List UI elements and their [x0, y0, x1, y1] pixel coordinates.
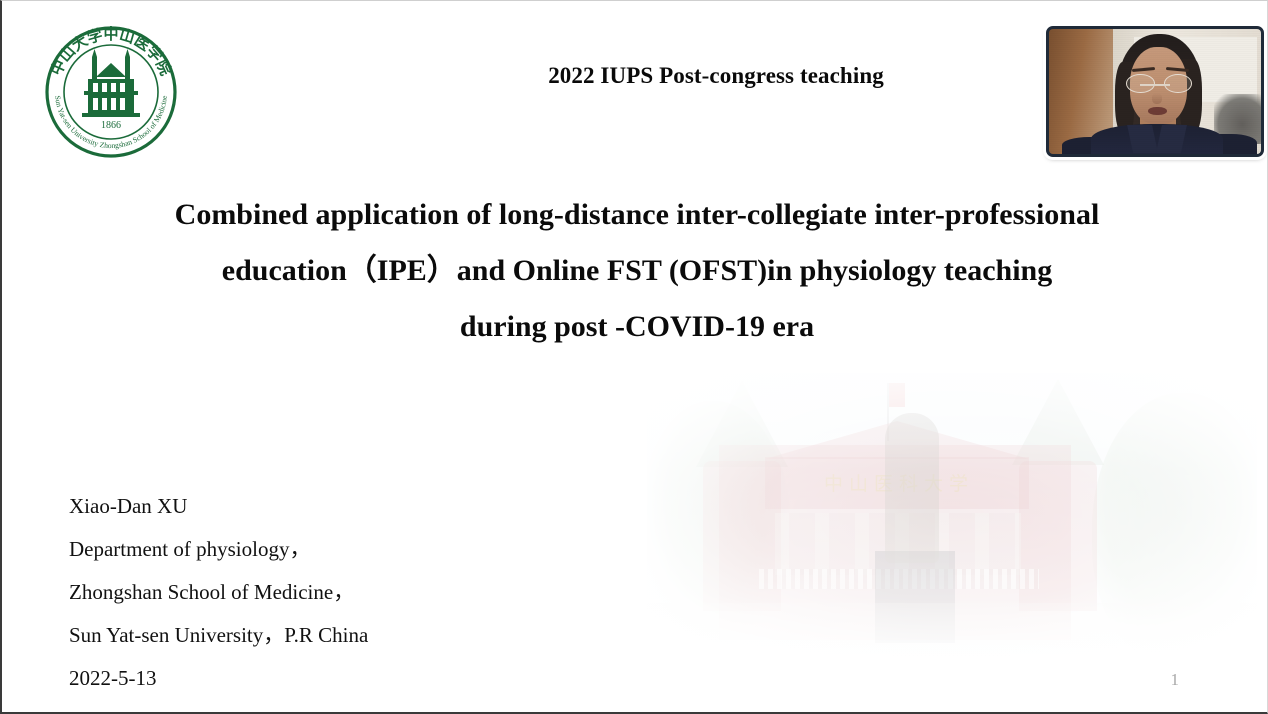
photo-pediment	[765, 421, 1029, 459]
presentation-slide: 中山医科大学 中山大学中山医学院 Sun Yat-sen University …	[0, 0, 1268, 714]
photo-tower-roof-left	[696, 381, 788, 467]
author-affiliation-block: Xiao-Dan XU Department of physiology， Zh…	[69, 485, 368, 700]
title-line-1: Combined application of long-distance in…	[98, 187, 1176, 243]
photo-balustrade	[759, 569, 1039, 589]
photo-tower-left	[703, 461, 781, 611]
photo-flag	[889, 383, 905, 407]
slide-title: Combined application of long-distance in…	[98, 187, 1176, 355]
photo-white-wash-linear	[647, 373, 1257, 695]
campus-building-photo: 中山医科大学	[647, 373, 1257, 695]
photo-white-wash-vignette	[647, 373, 1257, 695]
author-department: Department of physiology，	[69, 528, 368, 571]
page-number: 1	[1171, 670, 1180, 690]
presenter-webcam-overlay[interactable]	[1046, 26, 1264, 157]
photo-statue-plinth	[875, 551, 955, 643]
logo-year-text: 1866	[101, 120, 121, 131]
title-line-2: education（IPE）and Online FST (OFST)in ph…	[98, 243, 1176, 299]
photo-tree-left	[647, 401, 791, 651]
photo-foreground	[647, 603, 1257, 695]
photo-building-sign: 中山医科大学	[799, 469, 999, 491]
presenter-collar-left	[1127, 125, 1158, 153]
photo-tower-right	[1019, 461, 1097, 611]
presenter-webcam-video[interactable]	[1049, 29, 1261, 154]
photo-building-body	[719, 445, 1071, 640]
title-line-3: during post -COVID-19 era	[98, 299, 1176, 355]
author-university: Sun Yat-sen University，P.R China	[69, 614, 368, 657]
slide-header-text: 2022 IUPS Post-congress teaching	[388, 63, 884, 88]
glasses-bridge	[1140, 84, 1170, 86]
presentation-date: 2022-5-13	[69, 657, 368, 700]
photo-statue	[885, 413, 939, 563]
photo-tree-right	[1092, 393, 1257, 663]
photo-tower-roof-right	[1012, 379, 1104, 465]
photo-pediment-bar	[765, 457, 1029, 509]
presenter-nose	[1152, 93, 1163, 104]
university-logo: 中山大学中山医学院 Sun Yat-sen University Zhongsh…	[40, 23, 182, 161]
author-school: Zhongshan School of Medicine，	[69, 571, 368, 614]
author-name: Xiao-Dan XU	[69, 485, 368, 528]
photo-colonnade	[775, 513, 1021, 575]
photo-sky	[647, 373, 1257, 695]
photo-flag-pole	[887, 383, 889, 441]
presenter-mouth	[1148, 107, 1167, 116]
